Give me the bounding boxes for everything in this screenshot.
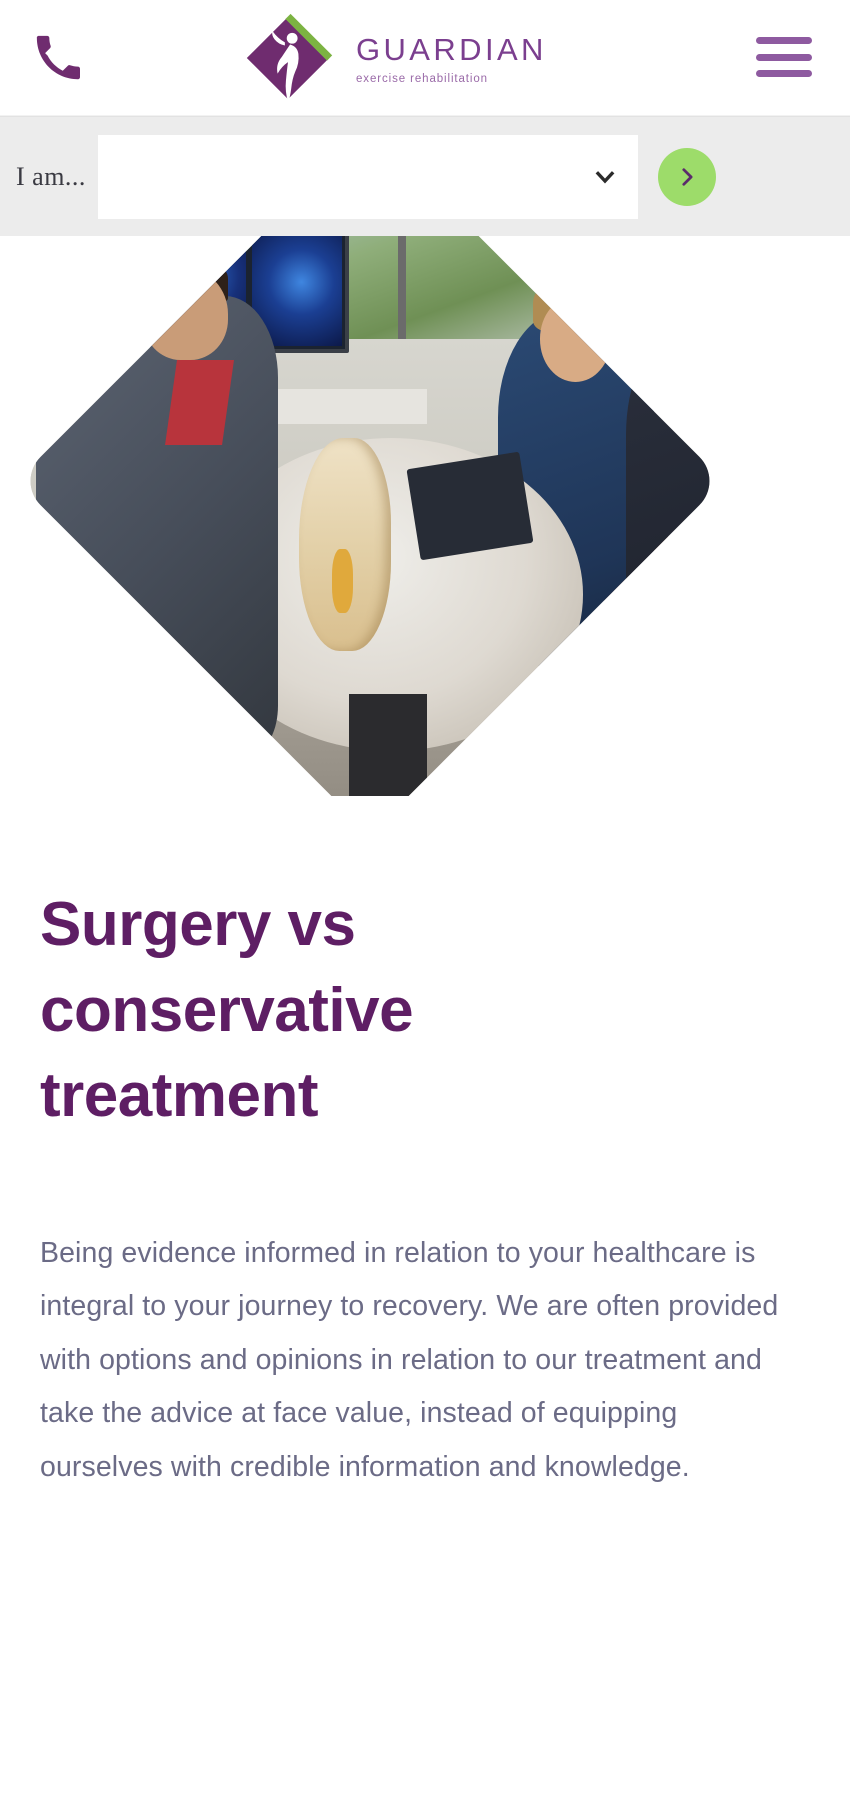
hamburger-bar (756, 54, 812, 61)
clinic-consultation-photo (16, 236, 723, 796)
brand-name: GUARDIAN (356, 34, 547, 65)
article: Surgery vs conservative treatment Being … (0, 796, 850, 1495)
selector-label: I am... (16, 162, 86, 192)
audience-select[interactable] (98, 135, 638, 219)
audience-selector-bar: I am... (0, 116, 850, 236)
phone-button[interactable] (26, 26, 88, 88)
brand-text: GUARDIAN exercise rehabilitation (356, 30, 547, 86)
hamburger-bar (756, 70, 812, 77)
hero-section (0, 236, 850, 796)
hamburger-menu-icon[interactable] (756, 30, 812, 84)
brand-logo-link[interactable]: GUARDIAN exercise rehabilitation (236, 4, 547, 112)
article-intro-paragraph: Being evidence informed in relation to y… (40, 1227, 800, 1495)
hero-diamond-image (16, 236, 723, 796)
chevron-down-icon (593, 165, 617, 189)
hamburger-bar (756, 37, 812, 44)
brand-tagline: exercise rehabilitation (356, 74, 547, 86)
selector-submit-button[interactable] (658, 148, 716, 206)
site-header: GUARDIAN exercise rehabilitation (0, 0, 850, 116)
guardian-diamond-logo-icon (236, 6, 340, 110)
page-root: GUARDIAN exercise rehabilitation I am... (0, 0, 850, 1796)
page-title: Surgery vs conservative treatment (40, 882, 510, 1139)
phone-icon (34, 34, 80, 80)
chevron-right-icon (676, 166, 698, 188)
